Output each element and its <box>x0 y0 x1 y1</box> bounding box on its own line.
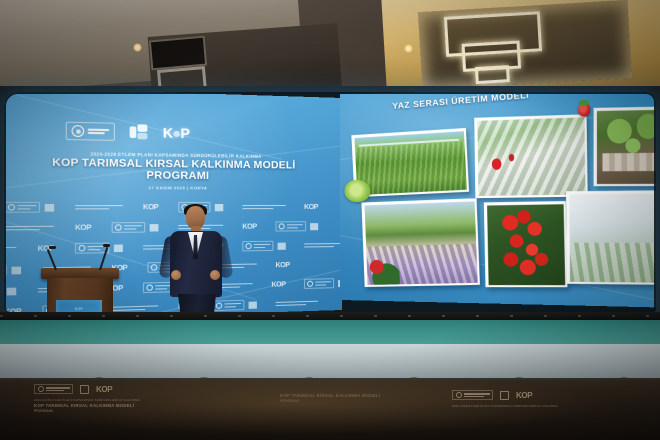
backdrop-seal-icon <box>307 281 313 287</box>
backdrop-pattern-cell <box>4 285 16 297</box>
backdrop-pattern-cell: KOP <box>143 203 158 210</box>
slide-title: KOP TARIMSAL KIRSAL KALKINMA MODELİ PROG… <box>52 157 296 183</box>
backdrop-emblem-icon <box>278 242 286 249</box>
backdrop-pattern-cell <box>4 247 16 251</box>
backdrop-programme-text <box>275 301 318 306</box>
chandelier-ring-inner <box>475 65 510 84</box>
backdrop-pattern-cell: KOP <box>275 261 289 268</box>
strawberry-decor-icon <box>578 103 591 117</box>
backdrop-kop-wordmark: KOP <box>304 203 318 210</box>
backdrop-emblem-icon <box>7 287 17 295</box>
backdrop-emblem-icon <box>249 301 257 308</box>
backdrop-pattern-cell <box>304 278 342 289</box>
backdrop-emblem-icon <box>45 203 54 211</box>
backdrop-pattern-cell: KOP <box>242 223 257 230</box>
backdrop-ministry-logo <box>304 278 334 289</box>
photo-cherry-tomatoes <box>484 201 568 287</box>
banner-kop-wordmark-left: KOP <box>96 385 112 394</box>
backdrop-ministry-logo <box>4 202 40 213</box>
banner-emblem-right <box>500 391 509 400</box>
backdrop-seal-icon <box>245 243 251 249</box>
backdrop-kop-wordmark: KOP <box>271 281 285 288</box>
backdrop-seal-icon <box>146 284 153 291</box>
banner-group-center: KOP TARIMSAL KIRSAL KALKINMA MODELİ PROG… <box>280 392 380 403</box>
lettuce-decor-icon <box>344 180 371 203</box>
backdrop-pattern-cell <box>4 226 54 230</box>
backdrop-programme-text <box>75 205 123 209</box>
backdrop-pattern-cell <box>275 221 318 231</box>
ceiling <box>0 0 660 96</box>
backdrop-programme-text <box>242 205 285 209</box>
banner-group-right: KOP 2024-2028 EYLEM PLANI KAPSAMINDA SÜR… <box>452 390 558 408</box>
kop-emblem-logo <box>130 124 149 140</box>
ceiling-light-fixture-square-a <box>149 36 207 71</box>
backdrop-seal-icon <box>279 223 285 229</box>
backdrop-ministry-logo <box>275 221 306 231</box>
backdrop-programme-text <box>4 226 54 230</box>
backdrop-kop-wordmark: KOP <box>143 203 158 210</box>
backdrop-pattern-cell <box>112 306 159 311</box>
microphone-head-left <box>49 246 56 249</box>
backdrop-ministry-logo <box>112 222 146 233</box>
backdrop-pattern-cell <box>75 205 123 209</box>
backdrop-pattern-cell <box>242 205 285 209</box>
photo-strawberry-seedlings <box>594 106 656 186</box>
backdrop-pattern-cell: KOP <box>271 281 285 288</box>
banner-subtitle-left: 2024-2028 EYLEM PLANI KAPSAMINDA SÜRDÜRÜ… <box>34 398 140 402</box>
backdrop-logo-lines <box>315 282 331 286</box>
backdrop-emblem-icon <box>12 266 22 274</box>
ministry-text-lines <box>88 129 110 134</box>
slide-date-location: 27 KASIM 2025 | KONYA <box>66 184 284 190</box>
backdrop-seal-icon <box>151 264 158 270</box>
backdrop-pattern-cell <box>4 202 54 213</box>
backdrop-emblem-icon <box>310 223 318 230</box>
backdrop-kop-wordmark: KOP <box>75 224 91 232</box>
backdrop-emblem-icon <box>114 244 123 252</box>
backdrop-pattern-cell <box>112 222 159 233</box>
banner-program-left: PROGRAMI <box>34 409 140 413</box>
kop-wordmark-logo: K●P <box>163 125 189 141</box>
backdrop-programme-text <box>112 306 159 311</box>
photo-strawberry-hydroponics <box>474 114 588 198</box>
backdrop-pattern-cell: KOP <box>304 203 318 210</box>
speaker-hand-left <box>171 270 181 280</box>
podium-logo-row: KOP <box>56 307 102 311</box>
backdrop-ministry-logo <box>242 241 273 252</box>
banner-ministry-logo-right <box>452 390 493 400</box>
slide-logo-row: K●P <box>66 122 189 143</box>
backdrop-pattern-cell <box>4 264 21 276</box>
backdrop-logo-lines <box>287 225 303 229</box>
banner-title-center: KOP TARIMSAL KIRSAL KALKINMA MODELİ <box>280 393 380 398</box>
chandelier-icon <box>444 5 545 96</box>
backdrop-ministry-logo <box>4 265 7 277</box>
banner-logo-row-left: KOP <box>34 384 140 394</box>
photo-greenhouse-interior <box>566 190 656 285</box>
backdrop-pattern-cell <box>275 301 318 306</box>
conference-hall-scene: K●P 2024-2028 EYLEM PLANI KAPSAMINDA SÜR… <box>0 0 660 440</box>
backdrop-emblem-icon <box>150 224 159 231</box>
bottom-banner: KOP 2024-2028 EYLEM PLANI KAPSAMINDA SÜR… <box>0 380 660 440</box>
backdrop-pattern-cell <box>75 242 123 253</box>
banner-emblem-left <box>80 385 89 394</box>
banner-text-lines-left <box>46 387 70 390</box>
backdrop-seal-icon <box>78 245 85 252</box>
banner-seal-icon-left <box>38 386 44 392</box>
speaker-hand-right <box>210 270 220 280</box>
backdrop-logo-lines <box>124 226 142 230</box>
backdrop-pattern-cell <box>242 241 285 252</box>
downlight-icon-3 <box>133 43 142 52</box>
banner-ministry-logo-left <box>34 384 73 394</box>
slide-title-line2: PROGRAMI <box>52 170 296 184</box>
stage-teal-band <box>0 320 660 346</box>
backdrop-seal-icon <box>115 224 122 230</box>
banner-text-lines-right <box>464 393 490 396</box>
backdrop-kop-wordmark: KOP <box>242 223 257 230</box>
backdrop-pattern-cell: KOP <box>75 224 91 232</box>
photo-greenhouse-field <box>361 198 479 287</box>
microphone-head-right <box>103 244 110 247</box>
led-panel-photo-slide: YAZ SERASI ÜRETİM MODELİ <box>340 92 656 308</box>
banner-program-center: PROGRAMI <box>280 399 380 403</box>
backdrop-seal-icon <box>8 204 15 211</box>
backdrop-programme-text <box>304 243 342 247</box>
banner-subtitle-right: 2024-2028 EYLEM PLANI KAPSAMINDA SÜRDÜRÜ… <box>452 404 558 408</box>
backdrop-programme-text <box>4 247 16 251</box>
downlight-icon-2 <box>404 44 413 53</box>
photo-grid <box>350 103 656 296</box>
banner-seal-icon-right <box>456 392 462 398</box>
backdrop-kop-wordmark: KOP <box>275 261 289 268</box>
backdrop-pattern-cell <box>304 243 342 247</box>
backdrop-logo-lines <box>17 205 36 209</box>
banner-group-left: KOP 2024-2028 EYLEM PLANI KAPSAMINDA SÜR… <box>34 384 140 413</box>
ministry-seal-icon <box>72 125 85 137</box>
banner-title-left: KOP TARIMSAL KIRSAL KALKINMA MODELİ <box>34 403 140 408</box>
ministry-seal-logo <box>66 122 115 141</box>
backdrop-logo-lines <box>254 244 271 248</box>
banner-logo-row-right: KOP <box>452 390 558 400</box>
banner-kop-wordmark-right: KOP <box>516 391 532 400</box>
